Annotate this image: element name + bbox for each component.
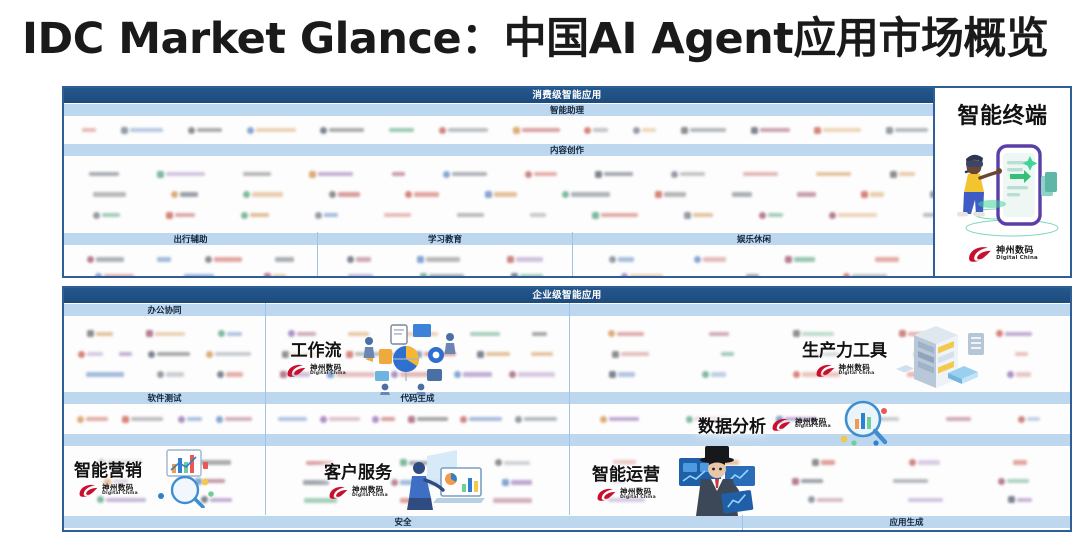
vendor-logo-mark [104, 478, 111, 485]
vendor-logo-mark [793, 371, 800, 378]
logo-shelf-smart-marketing [64, 447, 265, 515]
vendor-logo [278, 417, 307, 422]
logo-row [64, 459, 265, 466]
logo-shelf-software-testing [64, 405, 265, 433]
vendor-logo [608, 498, 645, 503]
vendor-logo [513, 127, 560, 134]
vendor-logo [104, 478, 128, 485]
vendor-logo [157, 257, 171, 262]
vendor-logo-text [130, 128, 163, 133]
vendor-logo [303, 480, 329, 485]
vendor-logo-text [470, 332, 500, 337]
vendor-logo-text [166, 372, 184, 377]
logo-row [570, 330, 1070, 337]
vendor-logo [532, 332, 547, 337]
vendor-logo-mark [776, 416, 783, 423]
vendor-logo-mark [415, 351, 422, 358]
vendor-logo-mark [218, 330, 225, 337]
vendor-logo-text [336, 372, 375, 377]
vendor-logo [732, 192, 752, 197]
enterprise-band-title: 企业级智能应用 [64, 288, 1070, 303]
vendor-logo [243, 191, 283, 198]
column-travel-assist: 出行辅助 [64, 232, 317, 278]
vendor-logo-text [1027, 417, 1040, 422]
vendor-logo-text [875, 257, 899, 262]
vendor-logo-text [873, 417, 899, 422]
vendor-logo [511, 273, 543, 278]
vendor-logo-mark [309, 171, 316, 178]
page-title: IDC Market Glance：中国AI Agent应用市场概览 [22, 10, 1062, 68]
vendor-logo-text [303, 480, 329, 485]
brand-name-en: Digital China [996, 256, 1038, 261]
vendor-logo [439, 127, 488, 134]
vendor-logo-text [613, 460, 636, 465]
vendor-logo-mark [264, 273, 271, 278]
logo-row [64, 478, 265, 485]
vendor-logo [460, 416, 502, 423]
vendor-logo-text [571, 192, 610, 197]
vendor-logo [908, 498, 943, 503]
vendor-logo-text [175, 213, 195, 218]
vendor-logo [157, 171, 205, 178]
vendor-logo-mark [171, 191, 178, 198]
vendor-logo-mark [861, 191, 868, 198]
vendor-logo-mark [914, 351, 921, 358]
logo-row [266, 498, 569, 503]
vendor-logo-text [664, 192, 686, 197]
vendor-logo [684, 212, 713, 219]
subsection-title-workflow-spacer [266, 303, 569, 317]
vendor-logo [812, 459, 835, 466]
logo-row [64, 416, 265, 423]
vendor-logo-text [400, 498, 430, 503]
vendor-logo-text [426, 257, 460, 262]
vendor-logo [320, 127, 364, 134]
vendor-logo-mark [998, 478, 1005, 485]
vendor-logo-mark [460, 416, 467, 423]
vendor-logo-text [618, 372, 635, 377]
vendor-logo-text [166, 172, 205, 177]
vendor-logo [347, 256, 371, 263]
vendor-logo-mark [87, 330, 94, 337]
vendor-logo [315, 212, 338, 219]
vendor-logo-mark [417, 256, 424, 263]
vendor-logo-text [593, 128, 608, 133]
vendor-logo-text [852, 274, 887, 278]
logo-shelf-smart-assistant [64, 117, 1070, 143]
vendor-logo-mark [495, 459, 502, 466]
vendor-logo-mark [562, 191, 569, 198]
vendor-logo-text [719, 498, 743, 503]
column-workflow: 工作流 神州数码 Digital China [265, 303, 569, 391]
vendor-logo-text [923, 352, 943, 357]
vendor-logo-text [243, 172, 271, 177]
vendor-logo-text [908, 498, 943, 503]
logo-shelf-content-creation [64, 157, 1070, 232]
vendor-logo-text [486, 352, 510, 357]
vendor-logo [400, 498, 430, 503]
vendor-logo-mark [592, 212, 599, 219]
vendor-logo-text [429, 274, 464, 278]
vendor-logo [609, 371, 635, 378]
vendor-logo [201, 496, 232, 503]
vendor-logo [408, 416, 448, 423]
vendor-logo [792, 478, 823, 485]
vendor-logo-mark [1008, 496, 1015, 503]
vendor-logo-text [93, 192, 126, 197]
vendor-logo [595, 171, 633, 178]
vendor-logo [98, 459, 142, 466]
subsection-title-customer-service-spacer [266, 433, 569, 447]
vendor-logo-mark [909, 459, 916, 466]
vendor-logo [1007, 371, 1031, 378]
vendor-logo-mark [808, 496, 815, 503]
vendor-logo-mark [502, 479, 509, 486]
vendor-logo-text [389, 128, 414, 133]
column-software-testing: 软件测试 [64, 391, 265, 433]
vendor-logo-text [384, 213, 411, 218]
vendor-logo-mark [188, 127, 195, 134]
vendor-logo [562, 191, 610, 198]
vendor-logo-mark [751, 127, 758, 134]
vendor-logo-text [297, 332, 316, 337]
vendor-logo-mark [320, 416, 327, 423]
vendor-logo [814, 127, 861, 134]
logo-shelf-productivity-tools [570, 317, 1070, 391]
smartphone-ar-illustration [940, 130, 1065, 242]
vendor-logo-text [184, 274, 214, 278]
vendor-logo-text [946, 417, 971, 422]
vendor-logo-mark [315, 212, 322, 219]
vendor-logo-text [695, 417, 729, 422]
vendor-logo [864, 416, 899, 423]
vendor-logo [710, 496, 743, 503]
vendor-logo-mark [612, 351, 619, 358]
vendor-logo-text [870, 192, 884, 197]
vendor-logo-mark [899, 330, 906, 337]
subsection-title-entertainment: 娱乐休闲 [573, 232, 935, 246]
vendor-logo-text [617, 332, 644, 337]
subsection-title-security: 安全 [64, 515, 742, 529]
column-productivity-tools: 生产力工具 神州数码 Digital China [569, 303, 1070, 391]
vendor-logo-text [705, 479, 722, 484]
vendor-logo-text [106, 498, 146, 503]
vendor-logo-mark [122, 416, 129, 423]
vendor-logo-mark [439, 127, 446, 134]
column-application-generation: 应用生成 [742, 515, 1070, 532]
vendor-logo [633, 127, 656, 134]
vendor-logo-text [895, 128, 928, 133]
vendor-logo [1008, 496, 1032, 503]
vendor-logo-mark [97, 496, 104, 503]
vendor-logo-text [306, 461, 333, 466]
vendor-logo-text [400, 372, 438, 377]
vendor-logo-text [187, 417, 202, 422]
vendor-logo-text [250, 213, 269, 218]
logo-row [570, 371, 1070, 378]
vendor-logo-text [348, 332, 369, 337]
vendor-logo-text [801, 479, 823, 484]
vendor-logo [217, 371, 243, 378]
vendor-logo [457, 213, 484, 218]
vendor-logo-text [693, 213, 713, 218]
vendor-logo-text [392, 172, 405, 177]
vendor-logo-text [87, 352, 103, 357]
vendor-logo-text [618, 257, 634, 262]
vendor-logo [392, 172, 405, 177]
column-learning-education: 学习教育 [317, 232, 572, 278]
vendor-logo-mark [148, 351, 155, 358]
vendor-logo-mark [608, 330, 615, 337]
logo-row [64, 330, 265, 337]
vendor-logo-mark [77, 416, 84, 423]
vendor-logo-mark [814, 127, 821, 134]
vendor-logo [400, 459, 428, 466]
vendor-logo [119, 352, 132, 357]
logo-shelf-office-collaboration [64, 317, 265, 391]
enterprise-row-3: 智能营销 神州数码 Digital China [64, 433, 1070, 515]
vendor-logo-mark [759, 212, 766, 219]
vendor-logo-mark [87, 256, 94, 263]
vendor-logo-text [157, 352, 190, 357]
vendor-logo [417, 256, 460, 263]
vendor-logo-text [907, 372, 940, 377]
vendor-logo-mark [420, 273, 427, 278]
subsection-title-learning-education: 学习教育 [318, 232, 572, 246]
logo-row [318, 256, 572, 263]
vendor-logo-mark [217, 371, 224, 378]
vendor-logo-mark [793, 330, 800, 337]
vendor-logo-text [348, 274, 373, 278]
vendor-logo-mark [621, 273, 628, 278]
vendor-logo-mark [671, 171, 678, 178]
logo-row [266, 330, 569, 337]
vendor-logo-mark [702, 371, 709, 378]
vendor-logo-text [768, 213, 783, 218]
vendor-logo-text [511, 480, 532, 485]
subsection-title-smart-assistant: 智能助理 [64, 103, 1070, 117]
vendor-logo [914, 351, 943, 358]
vendor-logo-text [409, 461, 428, 466]
vendor-logo [454, 371, 492, 378]
vendor-logo [384, 213, 411, 218]
vendor-logo [875, 257, 899, 262]
vendor-logo [304, 498, 337, 503]
logo-row [266, 479, 569, 486]
vendor-logo [171, 191, 198, 198]
vendor-logo [122, 416, 163, 423]
vendor-logo [309, 171, 353, 178]
vendor-logo-text [1016, 372, 1031, 377]
consumer-section: 消费级智能应用 智能助理 内容创作 出行辅助 学习教育 娱乐休闲 [62, 86, 1072, 278]
vendor-logo [946, 417, 971, 422]
vendor-logo [178, 416, 202, 423]
vendor-logo [87, 256, 124, 263]
vendor-logo [241, 212, 269, 219]
vendor-logo-text [534, 172, 557, 177]
vendor-logo-text [1015, 352, 1028, 357]
vendor-logo-mark [146, 330, 153, 337]
vendor-logo [909, 459, 940, 466]
vendor-logo-text [180, 192, 198, 197]
vendor-logo-mark [93, 212, 100, 219]
column-smart-marketing: 智能营销 神州数码 Digital China [64, 433, 265, 515]
vendor-logo-mark [243, 191, 250, 198]
column-customer-service: 客户服务 神州数码 Digital China [265, 433, 569, 515]
vendor-logo-text [356, 257, 371, 262]
logo-row [570, 351, 1070, 358]
vendor-logo [400, 332, 438, 337]
vendor-logo-mark [391, 371, 398, 378]
vendor-logo [829, 212, 877, 219]
vendor-logo [681, 127, 726, 134]
vendor-logo-mark [157, 171, 164, 178]
vendor-logo [797, 192, 816, 197]
vendor-logo-text [457, 213, 484, 218]
subsection-title-productivity-spacer [570, 303, 1070, 317]
vendor-logo-mark [843, 273, 850, 278]
vendor-logo [320, 416, 360, 423]
vendor-logo-mark [157, 371, 164, 378]
vendor-logo [288, 330, 316, 337]
vendor-logo-mark [829, 212, 836, 219]
vendor-logo [121, 127, 163, 134]
vendor-logo [694, 256, 726, 263]
logo-shelf-learning-education [318, 246, 572, 278]
vendor-logo-mark [347, 256, 354, 263]
vendor-logo-mark [507, 256, 514, 263]
subsection-title-smart-marketing-spacer [64, 433, 265, 447]
vendor-logo-mark [609, 256, 616, 263]
vendor-logo [746, 274, 759, 278]
logo-shelf-customer-service [266, 447, 569, 515]
vendor-logo [216, 416, 252, 423]
vendor-logo [195, 478, 225, 485]
column-data-analysis: 数据分析 神州数码 Digital China [569, 391, 1070, 433]
vendor-logo-text [806, 352, 841, 357]
vendor-logo-mark [1018, 416, 1025, 423]
vendor-logo [759, 212, 783, 219]
vendor-logo-text [899, 172, 915, 177]
vendor-logo [702, 371, 726, 378]
vendor-logo-text [520, 274, 543, 278]
vendor-logo-text [1005, 332, 1032, 337]
logo-row [570, 459, 1070, 466]
vendor-logo-text [531, 352, 553, 357]
logo-row [64, 212, 1070, 219]
vendor-logo-text [86, 372, 124, 377]
vendor-logo [843, 273, 887, 278]
vendor-logo [515, 416, 557, 423]
vendor-logo-mark [288, 330, 295, 337]
vendor-logo [306, 461, 333, 466]
vendor-logo [907, 372, 940, 377]
vendor-logo-mark [327, 371, 334, 378]
vendor-logo-text [338, 192, 360, 197]
subsection-title-content-creation: 内容创作 [64, 143, 1070, 157]
vendor-logo-text [86, 417, 108, 422]
logo-row [64, 273, 317, 278]
vendor-logo-text [304, 498, 337, 503]
vendor-logo [329, 191, 360, 198]
subsection-title-application-generation: 应用生成 [743, 515, 1070, 529]
vendor-logo-text [448, 128, 488, 133]
digital-china-swirl-icon [967, 245, 993, 263]
vendor-logo-text [711, 372, 726, 377]
vendor-logo-mark [95, 273, 102, 278]
vendor-logo-mark [1007, 371, 1014, 378]
vendor-logo-mark [280, 371, 287, 378]
vendor-logo [443, 171, 487, 178]
logo-row [570, 496, 1070, 503]
vendor-logo-text [516, 257, 543, 262]
subsection-title-data-analysis-spacer [570, 391, 1070, 405]
vendor-logo [264, 273, 286, 278]
enterprise-row-2: 软件测试 代码生成 数据分析 [64, 391, 1070, 433]
vendor-logo [82, 128, 96, 133]
vendor-logo-mark [996, 330, 1003, 337]
vendor-logo-text [732, 192, 752, 197]
vendor-logo [655, 191, 686, 198]
vendor-logo-mark [681, 127, 688, 134]
vendor-logo [146, 330, 185, 337]
vendor-logo-text [611, 479, 626, 484]
logo-shelf-security [64, 529, 742, 532]
vendor-logo-text [289, 372, 310, 377]
logo-row [64, 191, 1070, 198]
vendor-logo [348, 274, 373, 278]
vendor-logo [998, 478, 1029, 485]
vendor-logo-text [157, 257, 171, 262]
vendor-logo-mark [346, 351, 353, 358]
vendor-logo [612, 351, 649, 358]
vendor-logo [188, 127, 222, 134]
vendor-logo-text [82, 128, 96, 133]
vendor-logo [816, 172, 851, 177]
vendor-logo-text [225, 417, 252, 422]
vendor-logo [157, 371, 184, 378]
vendor-logo [893, 479, 928, 484]
vendor-logo-text [785, 417, 817, 422]
vendor-logo-text [324, 213, 338, 218]
vendor-logo-mark [78, 351, 85, 358]
logo-row [64, 371, 265, 378]
logo-row [266, 459, 569, 466]
vendor-logo-text [226, 372, 243, 377]
vendor-logo [611, 479, 626, 484]
vendor-logo [93, 212, 120, 219]
vendor-logo-mark [710, 496, 717, 503]
vendor-logo [280, 371, 310, 378]
vendor-logo-text [918, 460, 940, 465]
vendor-logo-text [197, 128, 222, 133]
consumer-bottom-columns: 出行辅助 学习教育 娱乐休闲 [64, 232, 935, 278]
vendor-logo [793, 371, 840, 378]
vendor-logo-text [214, 257, 242, 262]
vendor-logo [861, 191, 884, 198]
vendor-logo-text [215, 352, 251, 357]
vendor-logo-text [424, 352, 456, 357]
vendor-logo-text [794, 257, 815, 262]
vendor-logo-mark [206, 351, 213, 358]
vendor-logo [793, 330, 834, 337]
vendor-logo-mark [709, 459, 716, 466]
vendor-logo [148, 351, 190, 358]
vendor-logo [621, 273, 663, 278]
vendor-logo-text [400, 480, 440, 485]
vendor-logo-mark [247, 127, 254, 134]
vendor-logo-text [210, 498, 232, 503]
